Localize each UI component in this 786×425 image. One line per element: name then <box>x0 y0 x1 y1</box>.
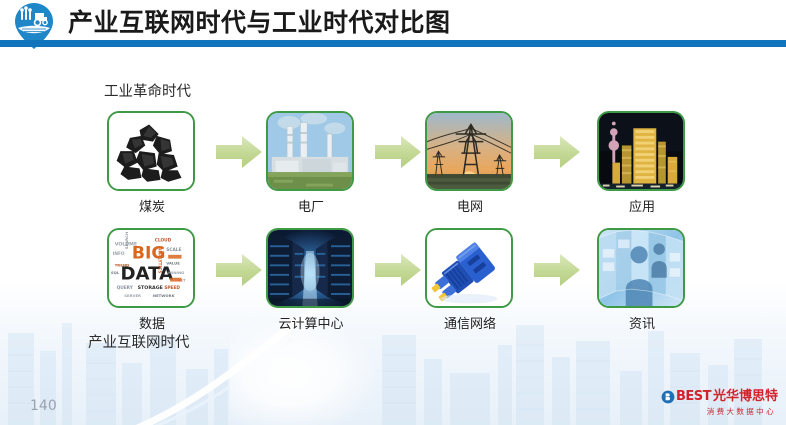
thumb-power-grid <box>425 111 513 191</box>
arrow-grid-to-application <box>534 135 580 169</box>
arrow-plant-to-grid <box>375 135 421 169</box>
brand-subtitle: 消费大数据中心 <box>661 406 776 417</box>
arrow-network-to-information <box>534 253 580 287</box>
svg-text:TREND: TREND <box>115 262 129 267</box>
era-label-industrial: 工业革命时代 <box>104 80 191 101</box>
thumb-coal <box>107 111 195 191</box>
big-data-wordcloud-photo: BIG DATA VOLUME CLOUD SCALE INFO TREND V… <box>109 230 193 306</box>
node-label-application: 应用 <box>597 196 687 215</box>
node-power-plant[interactable]: 电厂 <box>266 111 356 215</box>
data-center-aisle-photo <box>268 230 352 306</box>
node-cloud-center[interactable]: 云计算中心 <box>266 228 356 332</box>
node-data[interactable]: BIG DATA VOLUME CLOUD SCALE INFO TREND V… <box>107 228 197 332</box>
node-application[interactable]: 应用 <box>597 111 687 215</box>
slide-canvas: 产业互联网时代与工业时代对比图 工业革命时代 产业互联网时代 <box>0 0 786 425</box>
night-city-buildings-photo <box>599 113 683 189</box>
node-label-power-plant: 电厂 <box>266 196 356 215</box>
header-accent-rule <box>0 40 786 47</box>
thumb-cloud-center <box>266 228 354 308</box>
node-power-grid[interactable]: 电网 <box>425 111 515 215</box>
arrow-coal-to-plant <box>216 135 262 169</box>
arrow-data-to-cloud <box>216 253 262 287</box>
page-title: 产业互联网时代与工业时代对比图 <box>68 3 451 39</box>
node-label-coal: 煤炭 <box>107 196 197 215</box>
node-coal[interactable]: 煤炭 <box>107 111 197 215</box>
brand-chinese: 光华博思特 <box>713 390 778 403</box>
node-label-data: 数据 <box>107 313 197 332</box>
svg-text:SEARCH: SEARCH <box>124 232 129 249</box>
svg-text:ANALYTICS: ANALYTICS <box>157 247 163 273</box>
coal-pile-photo <box>109 113 193 189</box>
thumb-data: BIG DATA VOLUME CLOUD SCALE INFO TREND V… <box>107 228 195 308</box>
node-label-power-grid: 电网 <box>425 196 515 215</box>
svg-text:INFO: INFO <box>113 251 125 257</box>
brand-logo: BEST 光华博思特 消费大数据中心 <box>661 389 778 417</box>
thumb-comm-network <box>425 228 513 308</box>
svg-text:CLOUD: CLOUD <box>155 237 172 243</box>
thumb-information <box>597 228 685 308</box>
power-grid-sunset-photo <box>427 113 511 189</box>
arrow-cloud-to-network <box>375 253 421 287</box>
information-montage-photo <box>599 230 683 306</box>
node-label-cloud-center: 云计算中心 <box>248 313 374 332</box>
brand-latin: BEST <box>676 390 711 403</box>
svg-text:SQL: SQL <box>111 270 120 275</box>
svg-text:MINING: MINING <box>168 270 184 275</box>
svg-text:SPEED: SPEED <box>164 285 180 291</box>
node-comm-network[interactable]: 通信网络 <box>425 228 515 332</box>
power-plant-photo <box>268 113 352 189</box>
node-label-comm-network: 通信网络 <box>407 313 533 332</box>
node-information[interactable]: 资讯 <box>597 228 687 332</box>
svg-text:NETWORK: NETWORK <box>153 293 176 298</box>
node-label-information: 资讯 <box>597 313 687 332</box>
svg-text:SERVER: SERVER <box>124 293 141 298</box>
page-number: 140 <box>30 398 57 414</box>
svg-text:STORAGE: STORAGE <box>138 285 163 291</box>
fiber-optic-connector-photo <box>427 230 511 306</box>
thumb-power-plant <box>266 111 354 191</box>
svg-text:QUERY: QUERY <box>117 285 134 291</box>
svg-text:SCALE: SCALE <box>166 247 181 253</box>
thumb-application <box>597 111 685 191</box>
era-label-industrial-internet: 产业互联网时代 <box>88 331 190 352</box>
slide-header: 产业互联网时代与工业时代对比图 <box>0 0 786 47</box>
best-b-logo-icon <box>661 390 675 404</box>
svg-text:VALUE: VALUE <box>166 260 180 265</box>
